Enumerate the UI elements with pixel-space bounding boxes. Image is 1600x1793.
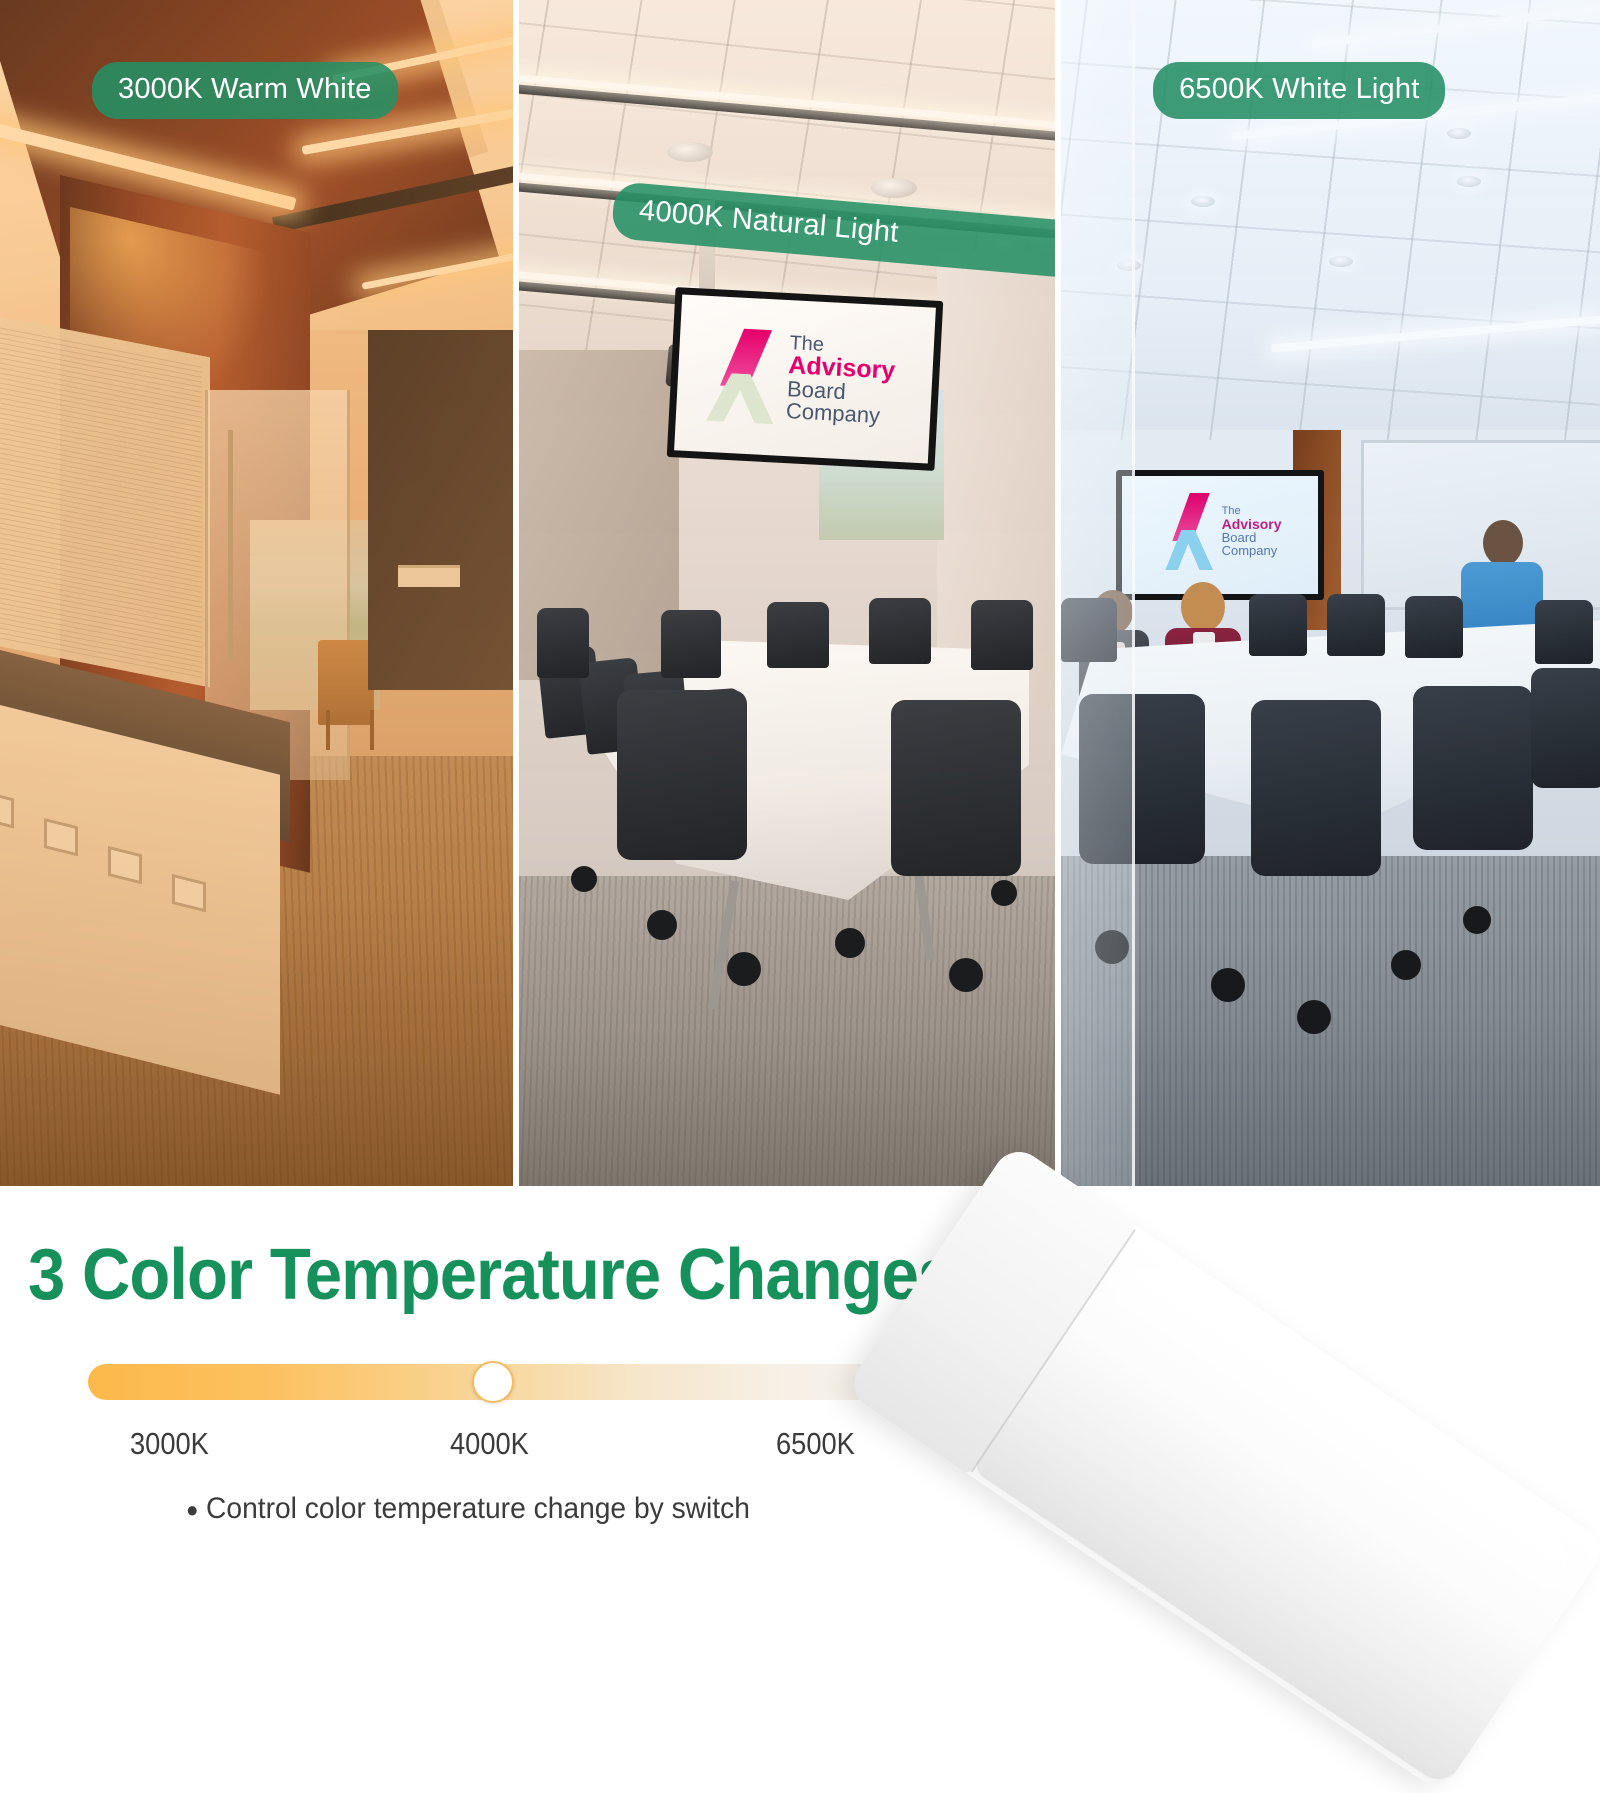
logo-wordmark: The Advisory Board Company — [1222, 506, 1282, 557]
office-chair — [537, 608, 589, 678]
chair-caster — [1463, 906, 1491, 934]
chair-caster — [1297, 1000, 1331, 1034]
chair-caster — [647, 910, 677, 940]
warm-room-scene — [0, 0, 513, 1186]
carpet-floor — [1061, 856, 1600, 1186]
recessed-downlight — [1447, 128, 1471, 139]
office-chair — [1249, 594, 1307, 656]
logo-wordmark: The Advisory Board Company — [786, 334, 897, 428]
display-screen: The Advisory Board Company — [674, 294, 936, 463]
slider-tick-labels: 3000K 4000K 6500K — [88, 1426, 898, 1466]
cabinet-label-plate — [398, 565, 460, 587]
color-temperature-comparison-strip: 3000K Warm White — [0, 0, 1600, 1186]
advisory-board-logo: The Advisory Board Company — [706, 327, 909, 431]
feature-note: ●Control color temperature change by swi… — [186, 1492, 750, 1526]
display-screen-frame: The Advisory Board Company — [1116, 470, 1324, 600]
panel-divider-2 — [1055, 0, 1061, 1186]
advisory-board-logo: The Advisory Board Company — [1165, 493, 1306, 571]
office-chair — [971, 600, 1033, 670]
logo-line-company: Company — [786, 401, 894, 429]
badge-6500k: 6500K White Light — [1153, 62, 1445, 119]
panel-divider-1 — [513, 0, 519, 1186]
office-chair — [661, 610, 721, 678]
office-chair-foreground — [1413, 686, 1533, 850]
logo-line-company: Company — [1222, 544, 1282, 557]
slider-track[interactable] — [88, 1364, 898, 1400]
chair-caster — [571, 866, 597, 892]
color-temperature-slider[interactable] — [88, 1364, 898, 1400]
natural-room-scene: The Advisory Board Company — [519, 0, 1055, 1186]
chair-caster — [835, 928, 865, 958]
office-chair-foreground — [617, 690, 747, 860]
logo-line-advisory: Advisory — [1222, 517, 1282, 531]
display-screen-frame: The Advisory Board Company — [667, 287, 944, 471]
recessed-downlight — [1191, 196, 1215, 207]
office-chair — [1535, 600, 1593, 664]
recessed-downlight — [1457, 176, 1481, 187]
logo-chevron — [706, 372, 776, 424]
panel-3000k-warm-white: 3000K Warm White — [0, 0, 513, 1186]
logo-line-board: Board — [1222, 531, 1282, 544]
bullet-icon: ● — [186, 1497, 198, 1522]
panel-4000k-natural-light: The Advisory Board Company — [519, 0, 1055, 1186]
feature-note-text: Control color temperature change by swit… — [206, 1492, 750, 1525]
logo-mark-icon — [706, 327, 778, 424]
office-chair — [869, 598, 931, 664]
chair-caster — [1211, 968, 1245, 1002]
panel-6500k-white-light: The Advisory Board Company — [1061, 0, 1600, 1186]
dark-cabinet — [368, 330, 513, 690]
slider-tick-6500k: 6500K — [776, 1426, 855, 1462]
glass-partition — [1061, 0, 1135, 1186]
office-chair-foreground — [891, 700, 1021, 876]
white-light-room-scene: The Advisory Board Company — [1061, 0, 1600, 1186]
wall-art-panel — [0, 313, 210, 688]
badge-3000k: 3000K Warm White — [92, 62, 398, 119]
section-headline: 3 Color Temperature Changes — [28, 1234, 954, 1316]
slider-tick-3000k: 3000K — [130, 1426, 209, 1462]
office-chair — [1405, 596, 1463, 658]
chair-caster — [727, 952, 761, 986]
ceiling-speaker-2 — [871, 178, 917, 198]
office-chair — [1531, 668, 1600, 788]
chair-caster — [991, 880, 1017, 906]
slider-knob[interactable] — [472, 1361, 514, 1403]
logo-mark-icon — [1165, 493, 1213, 571]
display-screen: The Advisory Board Company — [1122, 476, 1318, 594]
person-head — [1483, 520, 1523, 566]
slider-tick-4000k: 4000K — [450, 1426, 529, 1462]
office-chair — [767, 602, 829, 668]
logo-chevron — [1165, 530, 1213, 570]
chair-caster — [949, 958, 983, 992]
door-handle — [228, 430, 233, 660]
chair-caster — [1391, 950, 1421, 980]
recessed-downlight — [1329, 256, 1353, 267]
office-chair-foreground — [1251, 700, 1381, 876]
carpet-floor — [519, 876, 1055, 1186]
office-chair — [1327, 594, 1385, 656]
person-head — [1181, 582, 1225, 632]
wooden-chair — [318, 640, 374, 725]
ceiling-speaker-1 — [667, 142, 713, 162]
